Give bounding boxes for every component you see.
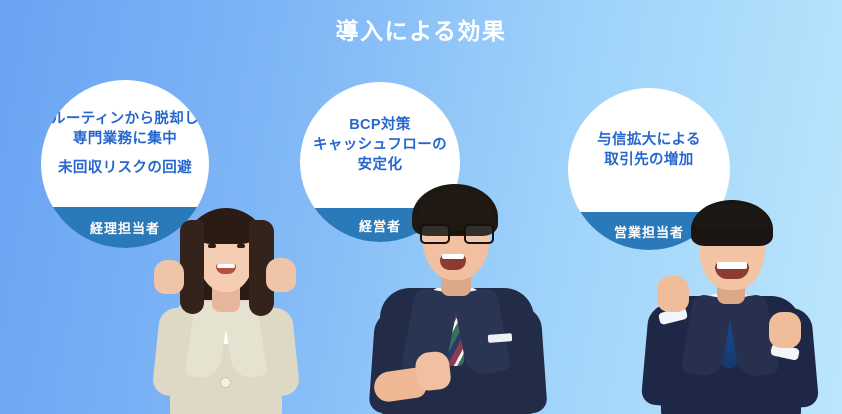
effect-line: 安定化: [358, 155, 403, 175]
glasses-lens-left: [420, 224, 450, 244]
effect-line: ルーティンから脱却し: [51, 109, 199, 129]
glasses-bridge: [450, 231, 464, 234]
blazer-button: [221, 378, 230, 387]
glasses-lens-right: [464, 224, 494, 244]
eye-right: [237, 244, 245, 248]
effects-banner: 導入による効果 ルーティンから脱却し 専門業務に集中 未回収リスクの回避 経理担…: [0, 0, 842, 414]
eye-left: [208, 244, 216, 248]
photo-accounting-staff-woman: [150, 200, 302, 414]
glasses-icon: [418, 224, 496, 244]
effect-line: 与信拡大による: [597, 130, 701, 150]
effect-circle-accounting-text: ルーティンから脱却し 専門業務に集中 未回収リスクの回避: [41, 80, 209, 207]
fist-left: [154, 260, 184, 294]
hair-side-left: [180, 220, 204, 314]
effect-line: BCP対策: [349, 115, 411, 135]
effect-line: 未回収リスクの回避: [58, 158, 192, 178]
page-title: 導入による効果: [0, 12, 842, 46]
fist-right: [769, 312, 801, 348]
effect-line: 専門業務に集中: [73, 129, 177, 149]
effect-circle-sales-text: 与信拡大による 取引先の増加: [568, 88, 730, 212]
fist-left: [657, 276, 689, 312]
open-smiling-mouth: [715, 262, 749, 279]
effect-line: 取引先の増加: [604, 150, 693, 170]
pointing-hand: [414, 350, 452, 391]
effect-line: キャッシュフローの: [313, 135, 447, 155]
photo-executive-man: [368, 184, 546, 414]
open-smiling-mouth: [440, 254, 466, 270]
fist-right: [266, 258, 296, 292]
photo-sales-staff-man: [645, 200, 815, 414]
pocket-square: [488, 333, 512, 343]
